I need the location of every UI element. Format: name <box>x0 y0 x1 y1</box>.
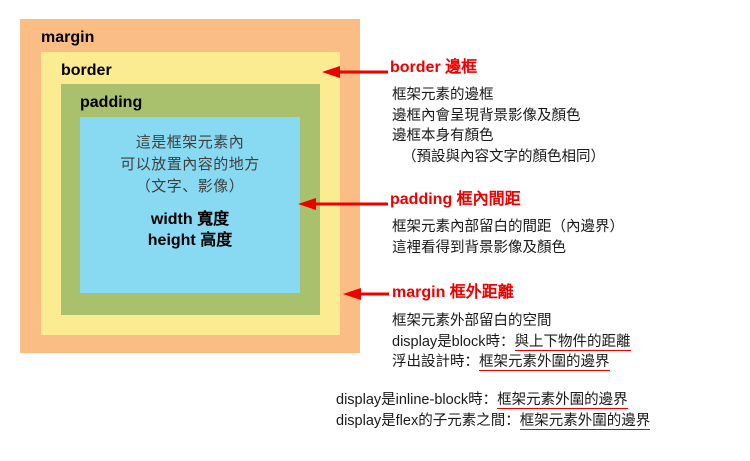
padding-annotation-heading: padding 框內間距 <box>390 192 521 208</box>
content-text-block: 這是框架元素內 可以放置內容的地方 （文字、影像） width 寬度 heigh… <box>80 117 300 252</box>
annotation-line: 這裡看得到背景影像及顏色 <box>392 238 624 259</box>
annotation-line: 邊框內會呈現背景影像及顏色 <box>392 106 605 127</box>
annotation-prefix: 浮出設計時： <box>392 354 479 370</box>
annotation-line: 邊框本身有顏色 <box>392 126 605 147</box>
margin-annotation-body: 框架元素外部留白的空間 display是block時：與上下物件的距離 浮出設計… <box>392 311 631 373</box>
annotation-line: 框架元素的邊框 <box>392 85 605 106</box>
annotation-emphasis: 框架元素外圍的邊界 <box>497 392 628 409</box>
annotation-emphasis: 與上下物件的距離 <box>515 334 631 351</box>
margin-annotation-body-extra: display是inline-block時：框架元素外圍的邊界 display是… <box>336 390 650 431</box>
annotation-line: display是flex的子元素之間：框架元素外圍的邊界 <box>336 411 650 432</box>
margin-layer: margin border padding 這是框架元素內 可以放置內容的地方 … <box>20 19 360 353</box>
padding-layer-label: padding <box>80 95 142 111</box>
content-line: （文字、影像） <box>80 176 300 198</box>
border-layer-label: border <box>61 63 112 79</box>
border-annotation-body: 框架元素的邊框 邊框內會呈現背景影像及顏色 邊框本身有顏色 （預設與內容文字的顏… <box>392 85 605 167</box>
content-line: 可以放置內容的地方 <box>80 154 300 176</box>
padding-layer: padding 這是框架元素內 可以放置內容的地方 （文字、影像） width … <box>61 84 320 315</box>
annotation-line: 浮出設計時：框架元素外圍的邊界 <box>392 352 631 373</box>
annotation-emphasis: 框架元素外圍的邊界 <box>520 413 651 430</box>
annotation-line: （預設與內容文字的顏色相同） <box>392 147 605 168</box>
padding-annotation-body: 框架元素內部留白的間距（內邊界） 這裡看得到背景影像及顏色 <box>392 217 624 258</box>
box-model-diagram: margin border padding 這是框架元素內 可以放置內容的地方 … <box>20 19 360 353</box>
annotation-line: display是block時：與上下物件的距離 <box>392 332 631 353</box>
dimension-block: width 寬度 height 高度 <box>80 210 300 252</box>
annotation-prefix: display是flex的子元素之間： <box>336 413 520 429</box>
annotation-text: 框架元素外部留白的空間 <box>392 313 552 329</box>
content-line: 這是框架元素內 <box>80 132 300 154</box>
border-annotation-heading: border 邊框 <box>390 60 477 76</box>
content-layer: 這是框架元素內 可以放置內容的地方 （文字、影像） width 寬度 heigh… <box>80 117 300 293</box>
width-label: width 寬度 <box>80 210 300 231</box>
margin-layer-label: margin <box>41 30 94 46</box>
margin-annotation-heading: margin 框外距離 <box>392 285 514 301</box>
height-label: height 高度 <box>80 231 300 252</box>
border-layer: border padding 這是框架元素內 可以放置內容的地方 （文字、影像）… <box>41 52 340 335</box>
annotation-prefix: display是inline-block時： <box>336 392 497 408</box>
annotation-line: display是inline-block時：框架元素外圍的邊界 <box>336 390 650 411</box>
annotation-prefix: display是block時： <box>392 334 515 350</box>
annotation-line: 框架元素內部留白的間距（內邊界） <box>392 217 624 238</box>
annotation-line: 框架元素外部留白的空間 <box>392 311 631 332</box>
annotation-emphasis: 框架元素外圍的邊界 <box>479 354 610 371</box>
